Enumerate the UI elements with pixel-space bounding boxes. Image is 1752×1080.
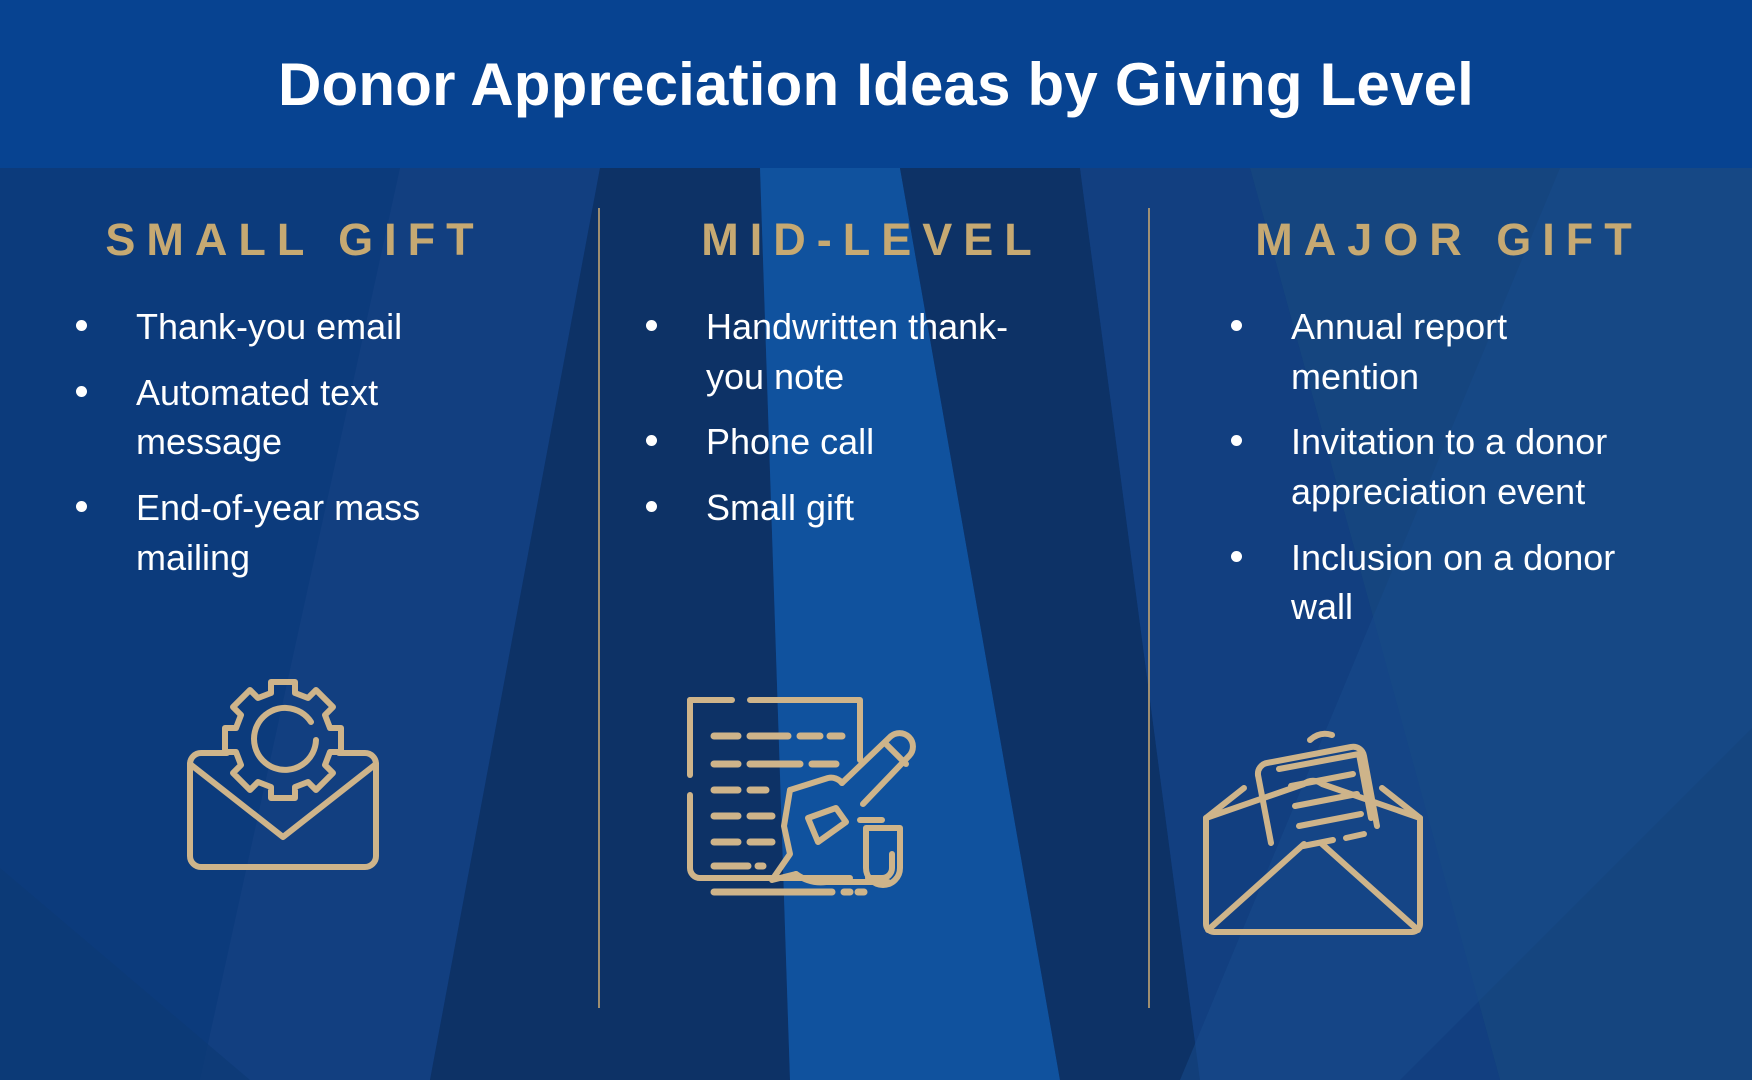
list-item-label: Inclusion on a donor wall bbox=[1291, 537, 1615, 628]
hand-writing-note-icon bbox=[672, 660, 922, 910]
list-item-label: Small gift bbox=[706, 487, 854, 528]
column-divider bbox=[598, 208, 600, 1008]
bullet-dot-icon bbox=[1231, 435, 1242, 446]
bullet-list-mid-level: Handwritten thank-you note Phone call Sm… bbox=[640, 302, 1020, 549]
list-item: End-of-year mass mailing bbox=[70, 483, 470, 582]
list-item-label: Annual report mention bbox=[1291, 306, 1507, 397]
page-title: Donor Appreciation Ideas by Giving Level bbox=[278, 50, 1474, 119]
column-heading-mid-level: MID-LEVEL bbox=[600, 214, 1150, 266]
envelope-with-gear-icon bbox=[168, 660, 398, 890]
letter-icon bbox=[1258, 734, 1377, 846]
title-band: Donor Appreciation Ideas by Giving Level bbox=[0, 0, 1752, 168]
column-heading-small-gift: SMALL GIFT bbox=[0, 214, 600, 266]
bullet-dot-icon bbox=[646, 435, 657, 446]
column-mid-level: MID-LEVEL Handwritten thank-you note Pho… bbox=[600, 168, 1150, 1080]
donor-appreciation-infographic: Donor Appreciation Ideas by Giving Level… bbox=[0, 0, 1752, 1080]
bullet-dot-icon bbox=[76, 501, 87, 512]
list-item-label: Thank-you email bbox=[136, 306, 402, 347]
columns-container: SMALL GIFT Thank-you email Automated tex… bbox=[0, 168, 1752, 1080]
open-envelope-with-letter-icon-svg bbox=[1188, 700, 1438, 950]
list-item: Thank-you email bbox=[70, 302, 470, 352]
bullet-list-small-gift: Thank-you email Automated text message E… bbox=[70, 302, 470, 598]
list-item: Inclusion on a donor wall bbox=[1225, 533, 1645, 632]
list-item: Invitation to a donor appreciation event bbox=[1225, 417, 1645, 516]
list-item: Small gift bbox=[640, 483, 1020, 533]
list-item: Handwritten thank-you note bbox=[640, 302, 1020, 401]
bullet-list-major-gift: Annual report mention Invitation to a do… bbox=[1225, 302, 1645, 648]
list-item-label: Handwritten thank-you note bbox=[706, 306, 1008, 397]
column-divider bbox=[1148, 208, 1150, 1008]
gear-icon bbox=[225, 682, 341, 798]
list-item-label: Invitation to a donor appreciation event bbox=[1291, 421, 1607, 512]
column-heading-major-gift: MAJOR GIFT bbox=[1150, 214, 1752, 266]
list-item: Annual report mention bbox=[1225, 302, 1645, 401]
bullet-dot-icon bbox=[76, 386, 87, 397]
list-item-label: Phone call bbox=[706, 421, 874, 462]
bullet-dot-icon bbox=[1231, 320, 1242, 331]
bullet-dot-icon bbox=[1231, 551, 1242, 562]
bullet-dot-icon bbox=[646, 320, 657, 331]
list-item-label: Automated text message bbox=[136, 372, 378, 463]
bullet-dot-icon bbox=[646, 501, 657, 512]
column-small-gift: SMALL GIFT Thank-you email Automated tex… bbox=[0, 168, 600, 1080]
hand-writing-note-icon-svg bbox=[672, 660, 922, 910]
list-item-label: End-of-year mass mailing bbox=[136, 487, 420, 578]
list-item: Phone call bbox=[640, 417, 1020, 467]
envelope-with-gear-icon-svg bbox=[168, 660, 398, 890]
bullet-dot-icon bbox=[76, 320, 87, 331]
open-envelope-with-letter-icon bbox=[1188, 700, 1438, 950]
list-item: Automated text message bbox=[70, 368, 470, 467]
